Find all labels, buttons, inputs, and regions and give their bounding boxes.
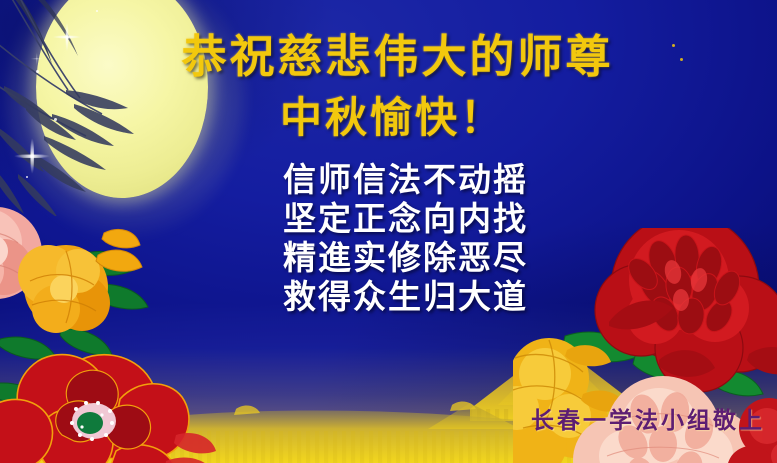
star-dot <box>96 10 98 12</box>
star-dot <box>680 58 683 61</box>
bamboo-branch-icon <box>0 0 222 216</box>
star-dot <box>26 176 28 178</box>
signature-text: 长春一学法小组敬上 <box>531 407 765 435</box>
mid-autumn-greeting-card: 恭祝慈悲伟大的师尊 中秋愉快！ 信师信法不动摇 坚定正念向内找 精進实修除恶尽 … <box>0 0 777 463</box>
star-dot <box>54 118 57 121</box>
star-dot <box>672 44 675 47</box>
peony-cluster-left-icon <box>0 189 240 463</box>
star-dot <box>36 70 39 73</box>
